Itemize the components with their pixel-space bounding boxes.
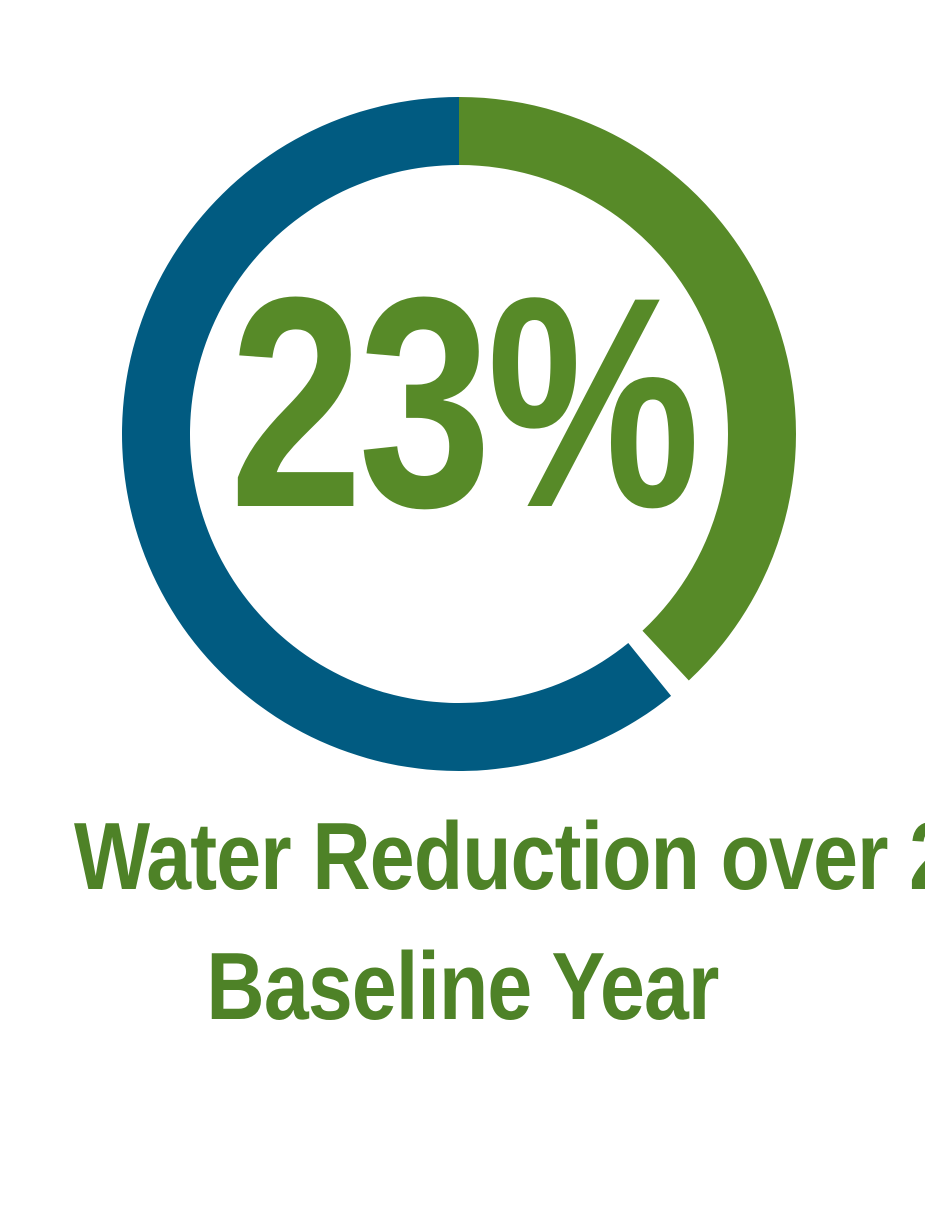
donut-chart: 23%: [0, 0, 925, 790]
infographic-card: 23% Water Reduction over 2014 Baseline Y…: [0, 0, 925, 1226]
caption-block: Water Reduction over 2014 Baseline Year: [0, 792, 925, 1052]
caption-line-2: Baseline Year: [74, 922, 851, 1052]
donut-center-value: 23%: [93, 252, 833, 552]
caption-line-1: Water Reduction over 2014: [74, 792, 851, 922]
